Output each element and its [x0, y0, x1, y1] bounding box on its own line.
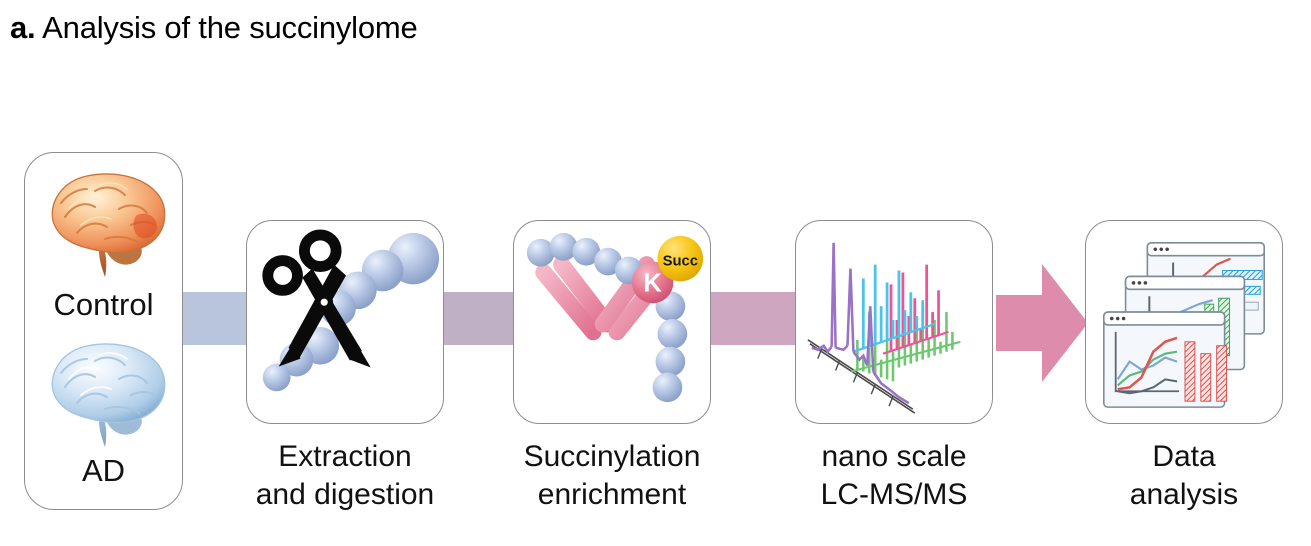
- caption-line-2: enrichment: [472, 476, 752, 514]
- antibody-icon: K Succ: [514, 221, 710, 423]
- svg-text:Succ: Succ: [663, 254, 698, 270]
- mass-spectrum-icon: [796, 221, 992, 423]
- step-panel-extraction-digestion[interactable]: [246, 220, 444, 424]
- figure-panel-a: a. Analysis of the succinylome: [0, 0, 1311, 546]
- sample-label-control: Control: [25, 287, 182, 323]
- step-panel-data-analysis[interactable]: [1085, 220, 1283, 424]
- connector-3: [700, 292, 806, 345]
- step-caption-nano-lc-ms-ms: nano scale LC-MS/MS: [766, 438, 1022, 514]
- flow-arrow: [996, 262, 1088, 384]
- step-panel-sample-collection[interactable]: Control: [24, 152, 183, 510]
- caption-line-1: Data: [1064, 438, 1304, 476]
- succ-badge: Succ: [658, 236, 704, 282]
- panel-title-text: Analysis of the succinylome: [42, 10, 417, 45]
- step-caption-succinylation-enrichment: Succinylation enrichment: [472, 438, 752, 514]
- analysis-windows-icon: [1086, 221, 1282, 423]
- step-caption-data-analysis: Data analysis: [1064, 438, 1304, 514]
- caption-line-2: analysis: [1064, 476, 1304, 514]
- panel-5-content: [1086, 221, 1282, 423]
- caption-line-2: and digestion: [205, 476, 485, 514]
- scissors-peptide-icon: [247, 221, 443, 423]
- step-panel-nano-lc-ms-ms[interactable]: [795, 220, 993, 424]
- brains-icon-ad: [33, 333, 175, 449]
- caption-line-1: Extraction: [205, 438, 485, 476]
- brains-icon-control: [33, 163, 175, 279]
- panel-3-content: K Succ: [514, 221, 710, 423]
- step-caption-extraction-digestion: Extraction and digestion: [205, 438, 485, 514]
- svg-text:K: K: [643, 269, 662, 297]
- panel-4-content: [796, 221, 992, 423]
- caption-line-2: LC-MS/MS: [766, 476, 1022, 514]
- panel-2-content: [247, 221, 443, 423]
- panel-letter: a.: [10, 10, 35, 45]
- caption-line-1: nano scale: [766, 438, 1022, 476]
- analysis-window-front: [1104, 312, 1227, 407]
- panel-1-content: Control: [25, 153, 182, 509]
- step-panel-succinylation-enrichment[interactable]: K Succ: [513, 220, 711, 424]
- sample-label-ad: AD: [25, 453, 182, 489]
- connector-2: [434, 292, 524, 345]
- caption-line-1: Succinylation: [472, 438, 752, 476]
- page-title: a. Analysis of the succinylome: [10, 8, 418, 48]
